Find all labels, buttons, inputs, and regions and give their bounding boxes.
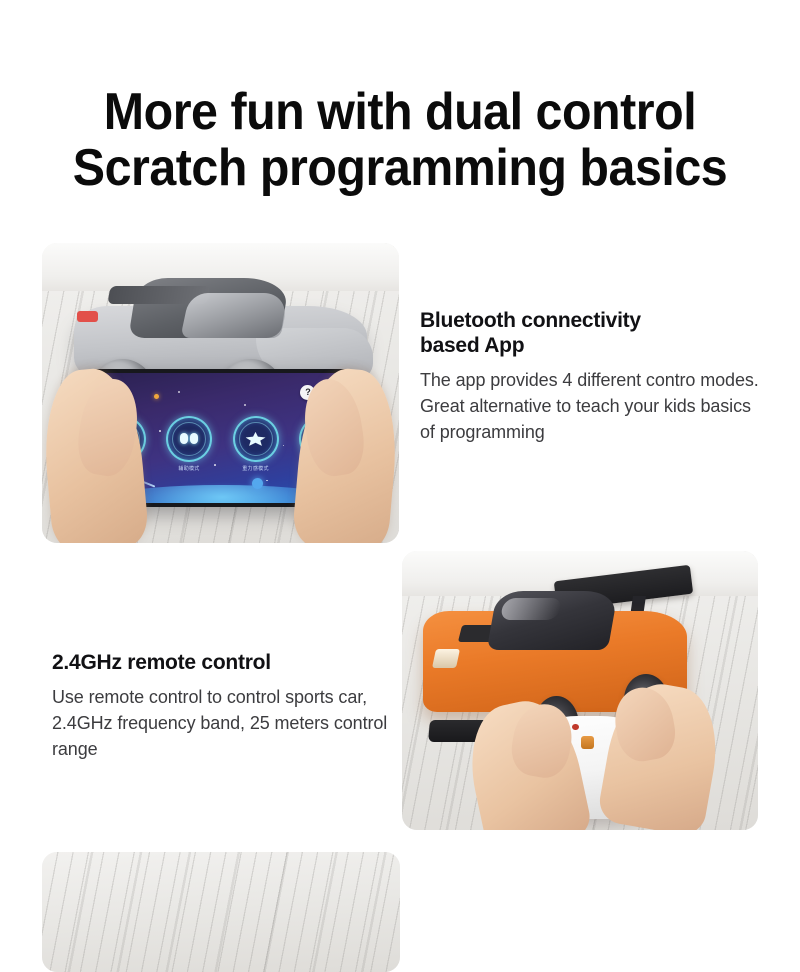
headline-line-2: Scratch programming basics [28,140,772,196]
power-led-indicator [572,724,579,730]
bottom-product-photo [42,852,400,972]
feature-bluetooth-app: Bluetooth connectivity based App The app… [420,308,770,445]
headline-line-1: More fun with dual control [28,84,772,140]
feature-description: Use remote control to control sports car… [52,684,400,762]
mode-button-dual[interactable]: 辅助模式 [160,416,219,472]
dual-mode-icon [179,432,199,446]
page-title: More fun with dual control Scratch progr… [0,84,800,196]
wood-floor-background [42,852,400,972]
app-demo-photo: ‹ ? ⚙ 运行模式 辅助模式 [42,243,399,543]
remote-center-button [581,736,594,748]
feature-title: Bluetooth connectivity based App [420,308,770,358]
remote-control-photo [402,551,758,830]
feature-title-line-2: based App [420,334,524,357]
car-windshield [181,293,290,338]
feature-remote-control: 2.4GHz remote control Use remote control… [52,650,400,762]
gravity-mode-icon [246,432,266,446]
feature-title-line-1: Bluetooth connectivity [420,309,641,332]
canopy-highlight [500,598,564,620]
feature-description: The app provides 4 different contro mode… [420,367,770,445]
mode-label: 辅助模式 [178,465,199,472]
mode-label: 重力感模式 [242,465,269,472]
mode-ring [233,416,279,462]
mode-button-gravity[interactable]: 重力感模式 [226,416,285,472]
orange-dot-decoration [154,394,159,399]
car-taillight [77,311,97,322]
product-feature-page: More fun with dual control Scratch progr… [0,0,800,868]
mode-ring [166,416,212,462]
car-headlight [432,649,460,668]
feature-title: 2.4GHz remote control [52,650,400,675]
